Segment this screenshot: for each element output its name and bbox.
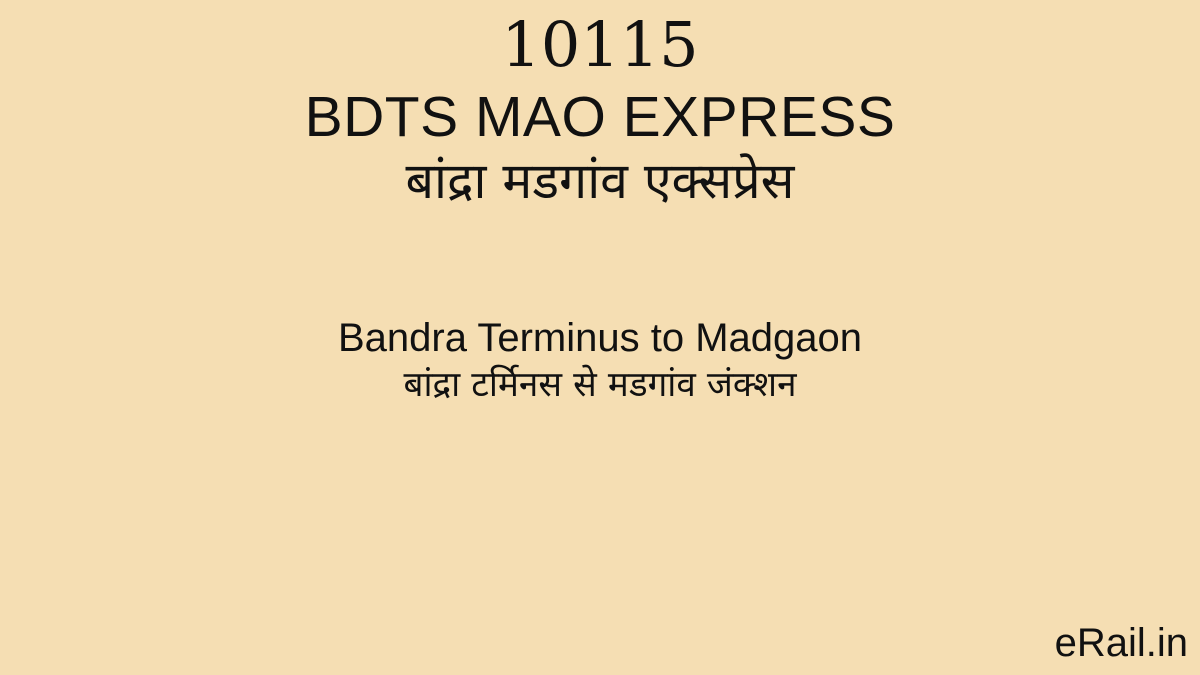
erail-watermark: eRail.in: [1055, 619, 1188, 667]
train-number: 10115: [0, 6, 1200, 84]
train-route-block: Bandra Terminus to Madgaon बांद्रा टर्मि…: [0, 314, 1200, 408]
route-hindi: बांद्रा टर्मिनस से मडगांव जंक्शन: [0, 362, 1200, 408]
train-title-block: 10115 BDTS MAO EXPRESS बांद्रा मडगांव एक…: [0, 0, 1200, 212]
train-name-hindi: बांद्रा मडगांव एक्सप्रेस: [0, 150, 1200, 212]
route-english: Bandra Terminus to Madgaon: [0, 314, 1200, 362]
train-name-english: BDTS MAO EXPRESS: [0, 84, 1200, 150]
train-info-card: 10115 BDTS MAO EXPRESS बांद्रा मडगांव एक…: [0, 0, 1200, 675]
